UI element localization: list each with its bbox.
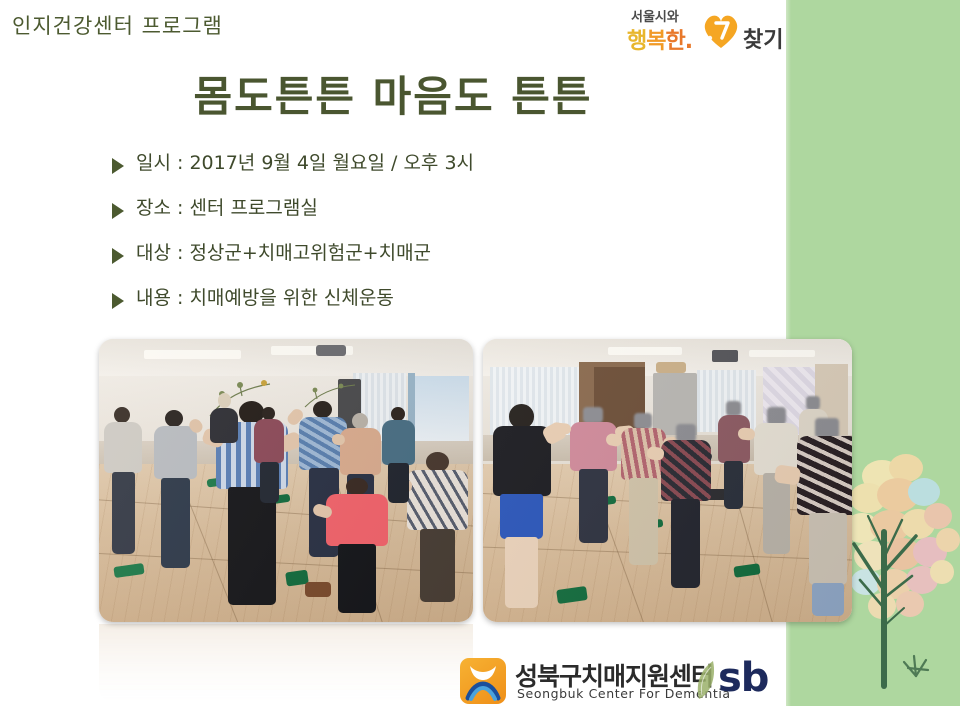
center-mark-icon — [460, 658, 506, 704]
seoul-logo-happy-1: 행 — [627, 29, 646, 54]
heart-icon — [701, 12, 741, 50]
photo-exercise-class-2 — [483, 339, 852, 622]
info-list: 일시 : 2017년 9월 4일 월요일 / 오후 3시 장소 : 센터 프로그… — [112, 152, 732, 332]
list-item-label: 대상 : 정상군+치매고위험군+치매군 — [136, 242, 431, 264]
seoul-logo-happy-3: 한. — [666, 29, 693, 54]
page-title: 몸도튼튼 마음도 튼튼 — [0, 63, 786, 124]
list-item-label: 내용 : 치매예방을 위한 신체운동 — [136, 287, 394, 309]
seoul-logo-find: 찾기 — [743, 22, 783, 54]
photo-reflection — [99, 624, 473, 702]
list-item: 장소 : 센터 프로그램실 — [112, 197, 732, 242]
seongbuk-dementia-center-logo: 성북구치매지원센터 Seongbuk Center For Dementia s… — [460, 655, 770, 710]
triangle-right-icon — [112, 158, 124, 174]
photo-exercise-class-1 — [99, 339, 473, 622]
triangle-right-icon — [112, 293, 124, 309]
seoul-happiness-logo: 서울시와 행복한. 찾기 — [625, 4, 785, 56]
list-item-label: 일시 : 2017년 9월 4일 월요일 / 오후 3시 — [136, 152, 474, 174]
slide-canvas: 인지건강센터 프로그램 몸도튼튼 마음도 튼튼 서울시와 행복한. 찾기 일시 … — [0, 0, 960, 720]
logo-sb-mark: sb — [718, 655, 768, 701]
list-item: 일시 : 2017년 9월 4일 월요일 / 오후 3시 — [112, 152, 732, 197]
seoul-logo-happy-2: 복 — [646, 29, 665, 54]
seoul-logo-happy: 행복한. — [627, 23, 692, 55]
list-item-label: 장소 : 센터 프로그램실 — [136, 197, 318, 219]
leaf-icon — [693, 659, 719, 703]
triangle-right-icon — [112, 203, 124, 219]
grass-tuft — [904, 656, 928, 676]
program-kicker: 인지건강센터 프로그램 — [12, 10, 223, 40]
triangle-right-icon — [112, 248, 124, 264]
list-item: 대상 : 정상군+치매고위험군+치매군 — [112, 242, 732, 287]
list-item: 내용 : 치매예방을 위한 신체운동 — [112, 287, 732, 332]
watercolor-tree-graphic — [838, 440, 960, 706]
